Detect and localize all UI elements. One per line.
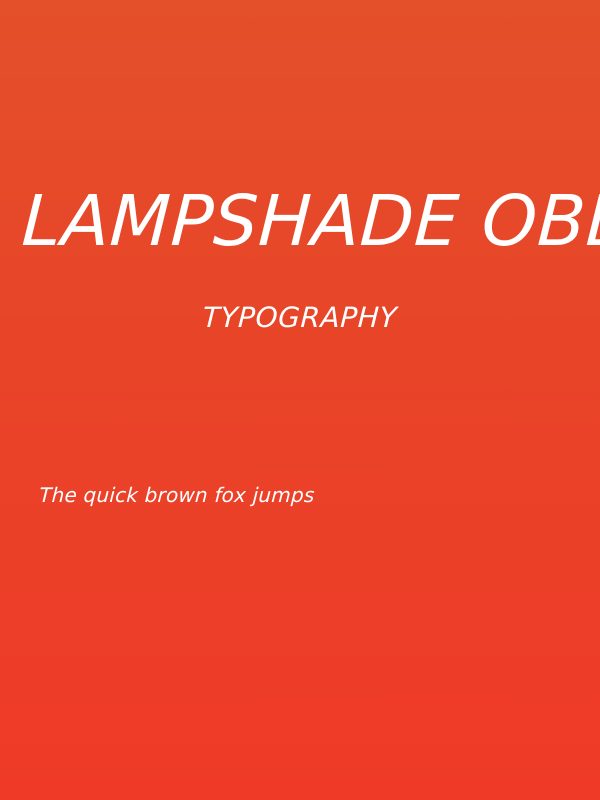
font-specimen-page: LAMPSHADE OBLIQUE TYPOGRAPHY The quick b… [0, 0, 600, 800]
font-category-label: TYPOGRAPHY [0, 301, 600, 335]
font-title: LAMPSHADE OBLIQUE [20, 186, 600, 256]
font-sample-pangram: The quick brown fox jumps [39, 482, 316, 508]
font-title-row: LAMPSHADE OBLIQUE [0, 186, 600, 272]
